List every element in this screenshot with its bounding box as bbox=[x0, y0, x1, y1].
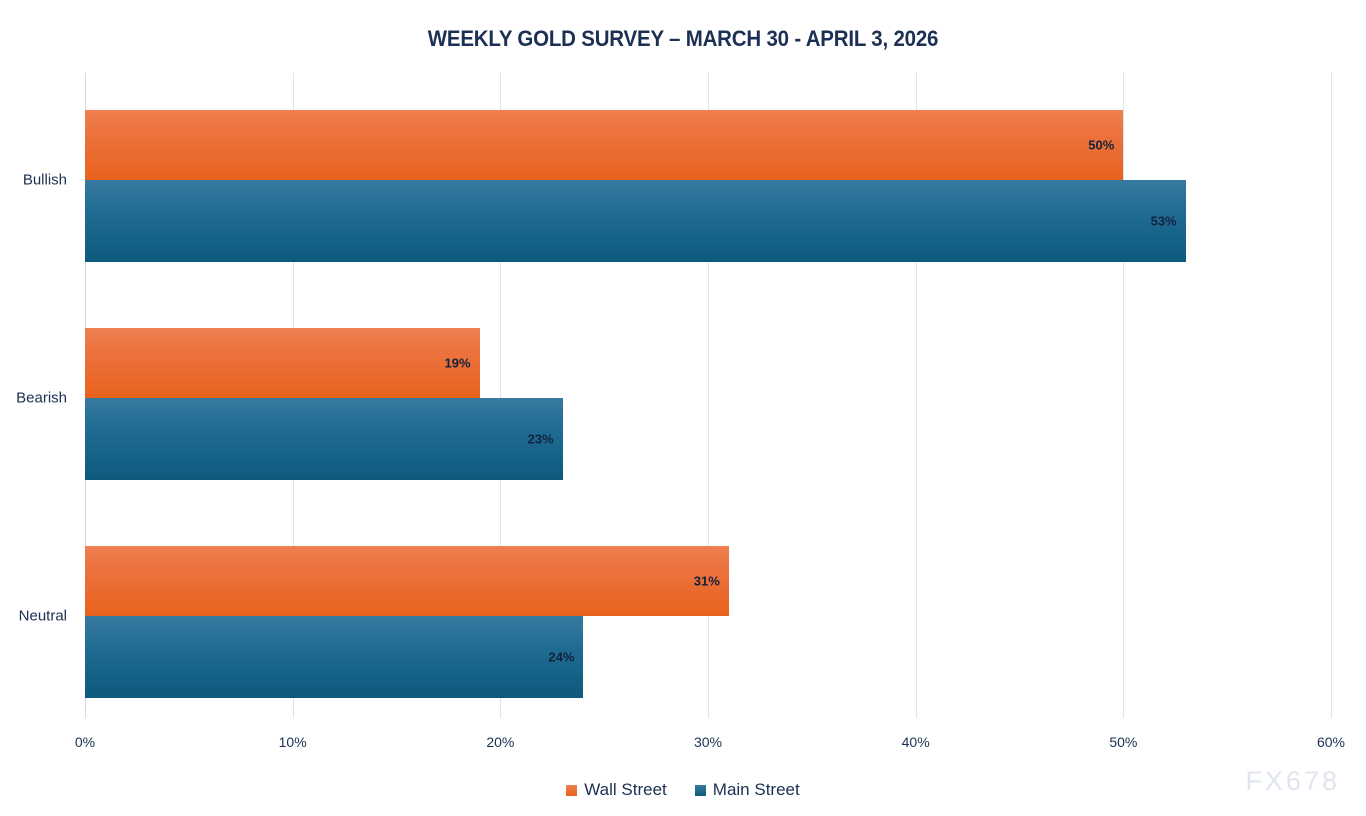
x-tick-label: 40% bbox=[902, 734, 930, 750]
bar-bearish-wall-street: 19% bbox=[85, 328, 480, 398]
plot-area: 50%53%19%23%31%24% bbox=[85, 73, 1331, 718]
x-tick-label: 60% bbox=[1317, 734, 1345, 750]
legend-item-wall-street[interactable]: Wall Street bbox=[566, 780, 667, 800]
chart-legend: Wall StreetMain Street bbox=[0, 780, 1366, 800]
x-tick-label: 20% bbox=[486, 734, 514, 750]
bar-bearish-main-street: 23% bbox=[85, 398, 563, 480]
bar-neutral-wall-street: 31% bbox=[85, 546, 729, 616]
bar-value-label: 31% bbox=[694, 574, 720, 589]
fx678-watermark: FX678 bbox=[1245, 766, 1340, 797]
legend-swatch-icon bbox=[566, 785, 577, 796]
category-label-bullish: Bullish bbox=[23, 172, 67, 189]
x-tick-label: 50% bbox=[1109, 734, 1137, 750]
legend-item-main-street[interactable]: Main Street bbox=[695, 780, 800, 800]
legend-swatch-icon bbox=[695, 785, 706, 796]
bar-value-label: 24% bbox=[548, 650, 574, 665]
bar-value-label: 53% bbox=[1151, 214, 1177, 229]
bar-value-label: 19% bbox=[445, 356, 471, 371]
x-tick-label: 10% bbox=[279, 734, 307, 750]
gridline-60 bbox=[1331, 73, 1332, 718]
bar-value-label: 23% bbox=[528, 432, 554, 447]
bar-value-label: 50% bbox=[1088, 138, 1114, 153]
legend-label: Wall Street bbox=[584, 780, 667, 800]
x-tick-label: 30% bbox=[694, 734, 722, 750]
chart-title: WEEKLY GOLD SURVEY – MARCH 30 - APRIL 3,… bbox=[48, 26, 1318, 52]
gridline-50 bbox=[1123, 73, 1124, 718]
x-tick-label: 0% bbox=[75, 734, 95, 750]
category-label-bearish: Bearish bbox=[16, 390, 67, 407]
gold-survey-bar-chart: WEEKLY GOLD SURVEY – MARCH 30 - APRIL 3,… bbox=[0, 0, 1366, 816]
bar-bullish-main-street: 53% bbox=[85, 180, 1186, 262]
legend-label: Main Street bbox=[713, 780, 800, 800]
bar-neutral-main-street: 24% bbox=[85, 616, 583, 698]
category-label-neutral: Neutral bbox=[19, 608, 67, 625]
bar-bullish-wall-street: 50% bbox=[85, 110, 1123, 180]
